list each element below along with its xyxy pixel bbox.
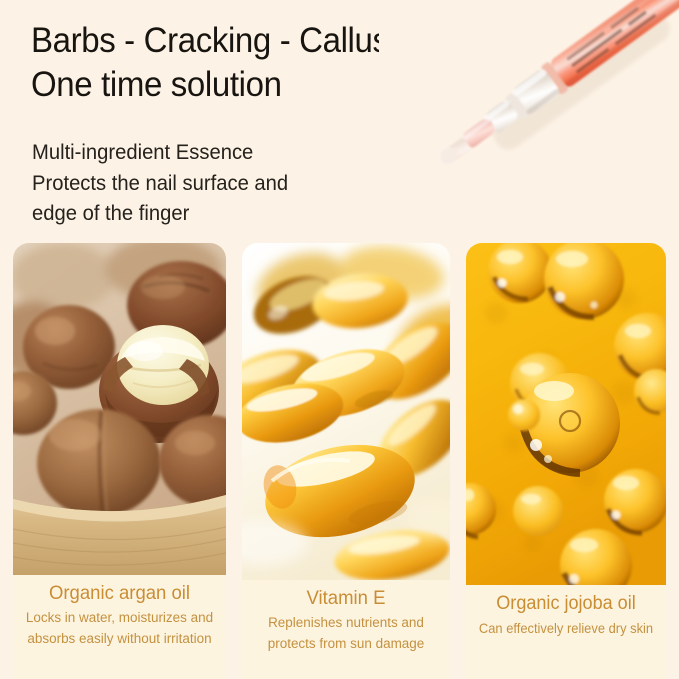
ingredient-card-jojoba: Organic jojoba oil Can effectively relie…: [466, 243, 666, 679]
card-description: Locks in water, moisturizes and absorbs …: [24, 608, 215, 650]
subheading: Multi-ingredient Essence Protects the na…: [32, 137, 408, 229]
headline-line-2: One time solution: [31, 62, 515, 106]
card-caption-jojoba: Organic jojoba oil Can effectively relie…: [466, 585, 666, 679]
card-caption-argan: Organic argan oil Locks in water, moistu…: [13, 575, 226, 679]
ingredient-cards-row: Organic argan oil Locks in water, moistu…: [0, 243, 679, 679]
golden-softgel-capsules-photo: [242, 243, 450, 580]
ingredient-card-argan: Organic argan oil Locks in water, moistu…: [13, 243, 226, 679]
subheading-line-1: Multi-ingredient Essence: [32, 137, 408, 168]
card-title: Organic jojoba oil: [477, 591, 656, 616]
card-description: Replenishes nutrients and protects from …: [253, 613, 439, 655]
product-infographic: Barbs - Cracking - Callus One time solut…: [0, 0, 679, 679]
page-title: Barbs - Cracking - Callus One time solut…: [31, 18, 515, 106]
subheading-line-3: edge of the finger: [32, 198, 408, 229]
subheading-line-2: Protects the nail surface and: [32, 168, 408, 199]
card-caption-vitamin-e: Vitamin E Replenishes nutrients and prot…: [242, 580, 450, 679]
headline-line-1: Barbs - Cracking - Callus: [31, 20, 389, 60]
card-description: Can effectively relieve dry skin: [477, 618, 656, 639]
amber-oil-bubbles-photo: [466, 243, 666, 585]
macadamia-nuts-in-wooden-bowl-photo: [13, 243, 226, 575]
card-title: Organic argan oil: [24, 581, 215, 606]
card-title: Vitamin E: [253, 586, 439, 611]
header-section: Barbs - Cracking - Callus One time solut…: [0, 0, 679, 240]
ingredient-card-vitamin-e: Vitamin E Replenishes nutrients and prot…: [242, 243, 450, 679]
